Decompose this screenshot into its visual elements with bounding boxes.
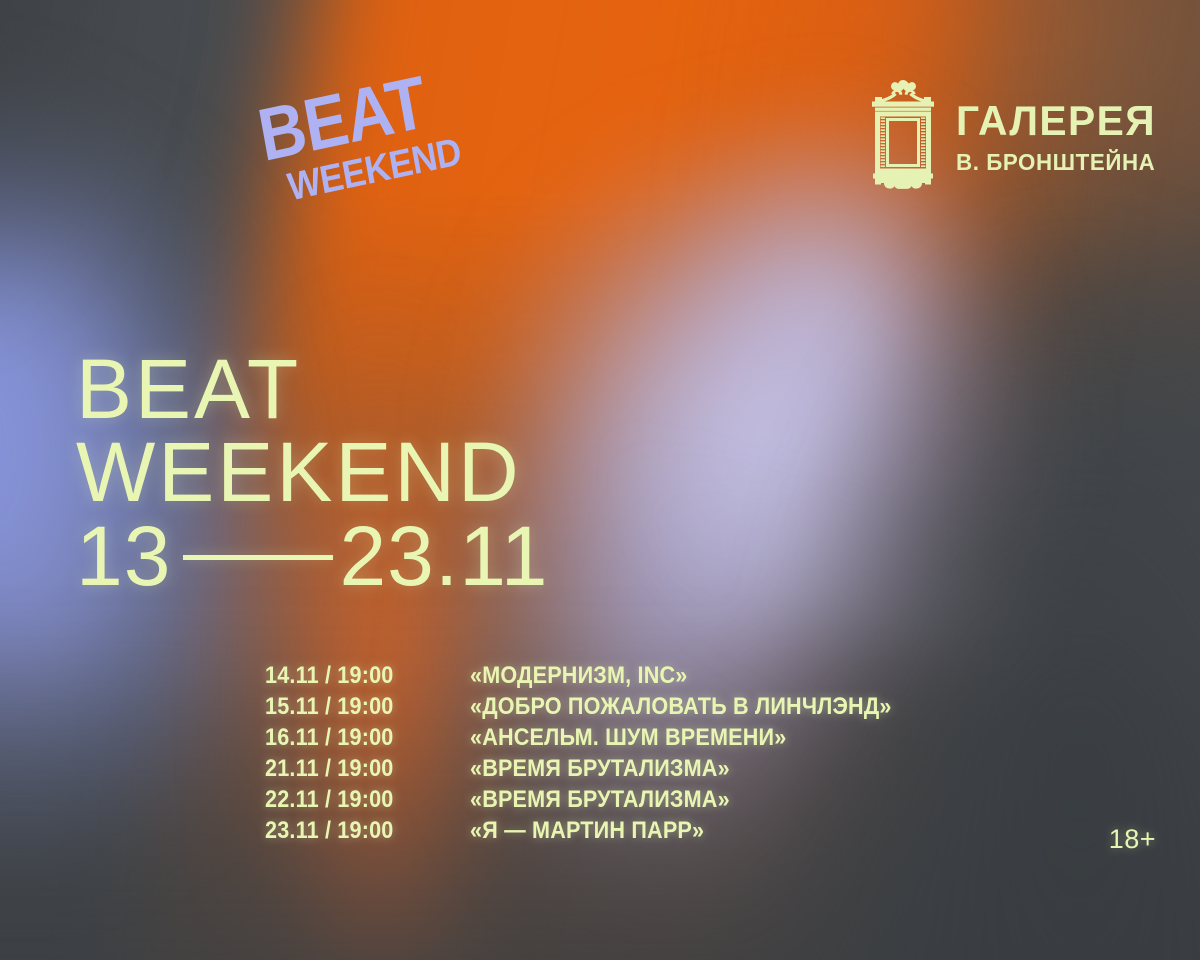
schedule-title: «АНСЕЛЬМ. ШУМ ВРЕМЕНИ» — [470, 724, 786, 752]
schedule-date: 15.11 / 19:00 — [265, 693, 450, 721]
gallery-wordmark: ГАЛЕРЕЯ В. БРОНШТЕЙНА — [956, 100, 1162, 174]
schedule-title: «ВРЕМЯ БРУТАЛИЗМА» — [470, 786, 730, 814]
headline-date-range: 13 23.11 — [76, 514, 548, 600]
schedule-date: 16.11 / 19:00 — [265, 724, 450, 752]
schedule-date: 14.11 / 19:00 — [265, 662, 450, 690]
headline-date-start: 13 — [76, 514, 171, 600]
headline-line-weekend: WEEKEND — [76, 431, 548, 514]
gallery-subtitle: В. БРОНШТЕЙНА — [956, 151, 1155, 174]
age-rating-badge: 18+ — [1109, 824, 1156, 855]
headline-line-beat: BEAT — [76, 348, 548, 431]
schedule-date: 22.11 / 19:00 — [265, 786, 450, 814]
schedule-list: 14.11 / 19:00 «МОДЕРНИЗМ, INC» 15.11 / 1… — [265, 662, 938, 848]
beat-weekend-logo: BEAT WEEKEND — [254, 62, 499, 292]
schedule-date: 21.11 / 19:00 — [265, 755, 450, 783]
schedule-date: 23.11 / 19:00 — [265, 817, 450, 845]
headline: BEAT WEEKEND 13 23.11 — [76, 348, 548, 600]
schedule-title: «МОДЕРНИЗМ, INC» — [470, 662, 687, 690]
schedule-row: 21.11 / 19:00 «ВРЕМЯ БРУТАЛИЗМА» — [265, 755, 938, 786]
gallery-title: ГАЛЕРЕЯ — [956, 100, 1156, 142]
schedule-title: «Я — МАРТИН ПАРР» — [470, 817, 704, 845]
schedule-row: 14.11 / 19:00 «МОДЕРНИЗМ, INC» — [265, 662, 938, 693]
schedule-title: «ДОБРО ПОЖАЛОВАТЬ В ЛИНЧЛЭНД» — [470, 693, 892, 721]
schedule-row: 15.11 / 19:00 «ДОБРО ПОЖАЛОВАТЬ В ЛИНЧЛЭ… — [265, 693, 938, 724]
schedule-title: «ВРЕМЯ БРУТАЛИЗМА» — [470, 755, 730, 783]
gallery-logo: ГАЛЕРЕЯ В. БРОНШТЕЙНА — [864, 78, 1162, 195]
schedule-row: 22.11 / 19:00 «ВРЕМЯ БРУТАЛИЗМА» — [265, 786, 938, 817]
poster-canvas: BEAT WEEKEND — [0, 0, 1200, 960]
schedule-row: 23.11 / 19:00 «Я — МАРТИН ПАРР» — [265, 817, 938, 848]
schedule-row: 16.11 / 19:00 «АНСЕЛЬМ. ШУМ ВРЕМЕНИ» — [265, 724, 938, 755]
headline-date-dash — [183, 555, 333, 560]
headline-date-end: 23.11 — [339, 514, 548, 600]
ornate-picture-frame-icon — [864, 78, 942, 195]
